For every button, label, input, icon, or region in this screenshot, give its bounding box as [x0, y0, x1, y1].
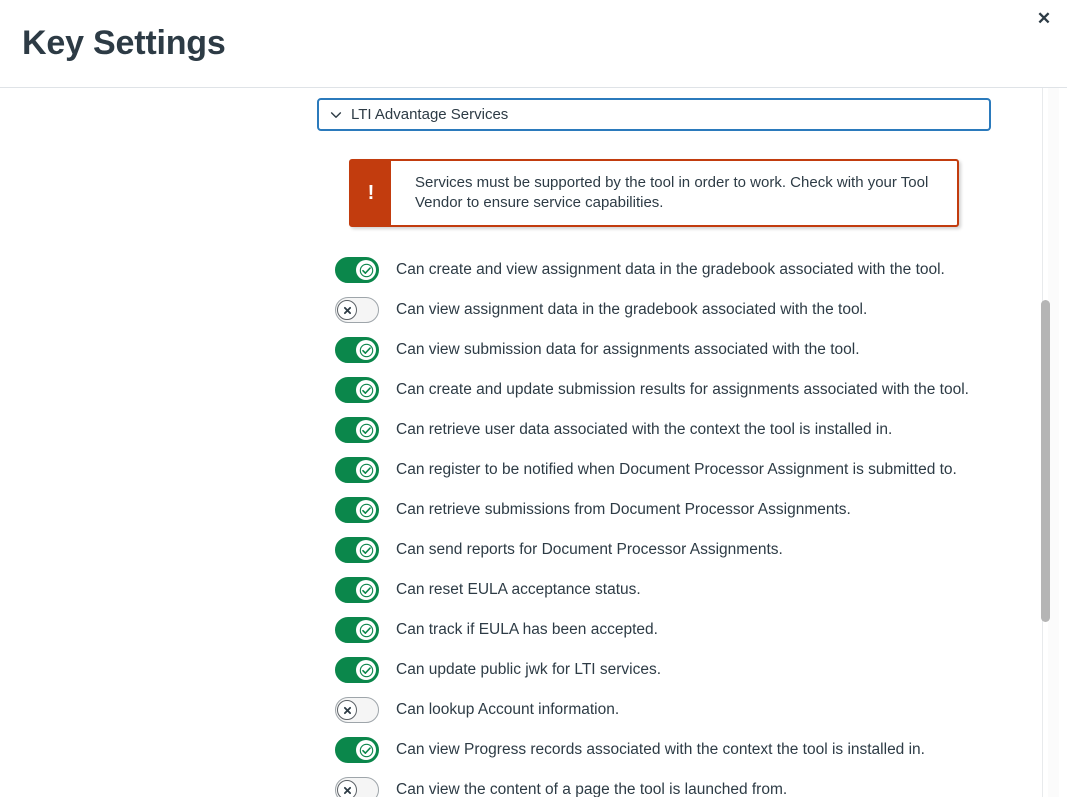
x-icon — [340, 703, 355, 718]
alert-message: Services must be supported by the tool i… — [391, 161, 957, 225]
service-toggle-row[interactable]: Can create and update submission results… — [317, 370, 991, 410]
toggle-switch-on[interactable] — [335, 657, 379, 683]
service-toggle-row[interactable]: Can send reports for Document Processor … — [317, 530, 991, 570]
toggle-switch-on[interactable] — [335, 377, 379, 403]
toggle-knob — [356, 660, 376, 680]
check-icon — [359, 463, 374, 478]
close-button[interactable]: ✕ — [1031, 5, 1057, 31]
service-toggle-row[interactable]: Can lookup Account information. — [317, 690, 991, 730]
check-icon — [359, 543, 374, 558]
scrollbar-track[interactable] — [1048, 88, 1059, 797]
service-toggle-label: Can retrieve submissions from Document P… — [396, 500, 851, 520]
toggle-knob — [356, 620, 376, 640]
service-toggle-label: Can update public jwk for LTI services. — [396, 660, 661, 680]
service-toggle-label: Can track if EULA has been accepted. — [396, 620, 658, 640]
chevron-down-icon — [329, 108, 343, 122]
page-title: Key Settings — [22, 22, 226, 64]
check-icon — [359, 423, 374, 438]
toggle-switch-on[interactable] — [335, 257, 379, 283]
service-toggle-row[interactable]: Can create and view assignment data in t… — [317, 250, 991, 290]
toggle-group-label: LTI Advantage Services — [351, 106, 508, 124]
service-toggle-label: Can view Progress records associated wit… — [396, 740, 925, 760]
check-icon — [359, 623, 374, 638]
service-toggle-row[interactable]: Can reset EULA acceptance status. — [317, 570, 991, 610]
toggle-switch-off[interactable] — [335, 297, 379, 323]
check-icon — [359, 503, 374, 518]
service-toggle-row[interactable]: Can view Progress records associated wit… — [317, 730, 991, 770]
service-toggle-label: Can view the content of a page the tool … — [396, 780, 787, 797]
toggle-group-lti-advantage-services[interactable]: LTI Advantage Services — [317, 98, 991, 131]
service-toggle-row[interactable]: Can retrieve submissions from Document P… — [317, 490, 991, 530]
toggle-switch-on[interactable] — [335, 417, 379, 443]
toggle-switch-on[interactable] — [335, 577, 379, 603]
modal-body: LTI Advantage Services ! Services must b… — [0, 88, 1067, 797]
scrollbar-thumb[interactable] — [1041, 300, 1050, 622]
service-toggle-label: Can create and update submission results… — [396, 380, 969, 400]
check-icon — [359, 743, 374, 758]
toggle-knob — [337, 700, 357, 720]
toggle-switch-off[interactable] — [335, 697, 379, 723]
toggle-knob — [356, 540, 376, 560]
close-icon: ✕ — [1037, 10, 1051, 27]
toggle-switch-on[interactable] — [335, 617, 379, 643]
toggle-switch-on[interactable] — [335, 337, 379, 363]
toggle-knob — [356, 740, 376, 760]
service-toggle-label: Can view assignment data in the gradeboo… — [396, 300, 867, 320]
toggle-knob — [356, 460, 376, 480]
toggle-switch-on[interactable] — [335, 737, 379, 763]
toggle-knob — [356, 420, 376, 440]
check-icon — [359, 343, 374, 358]
x-icon — [340, 303, 355, 318]
check-icon — [359, 263, 374, 278]
warning-icon-glyph: ! — [368, 183, 375, 203]
service-toggle-label: Can lookup Account information. — [396, 700, 619, 720]
toggle-switch-on[interactable] — [335, 537, 379, 563]
service-toggle-row[interactable]: Can retrieve user data associated with t… — [317, 410, 991, 450]
service-support-warning-alert: ! Services must be supported by the tool… — [349, 159, 959, 227]
toggle-switch-on[interactable] — [335, 457, 379, 483]
warning-icon: ! — [351, 161, 391, 225]
service-toggle-row[interactable]: Can register to be notified when Documen… — [317, 450, 991, 490]
settings-content: LTI Advantage Services ! Services must b… — [317, 98, 991, 797]
check-icon — [359, 583, 374, 598]
service-toggle-label: Can view submission data for assignments… — [396, 340, 860, 360]
toggle-knob — [356, 340, 376, 360]
x-icon — [340, 783, 355, 797]
toggle-switch-off[interactable] — [335, 777, 379, 797]
service-toggle-label: Can register to be notified when Documen… — [396, 460, 957, 480]
service-toggle-label: Can send reports for Document Processor … — [396, 540, 783, 560]
service-toggle-row[interactable]: Can track if EULA has been accepted. — [317, 610, 991, 650]
service-toggle-label: Can retrieve user data associated with t… — [396, 420, 892, 440]
toggle-knob — [356, 380, 376, 400]
check-icon — [359, 663, 374, 678]
toggle-knob — [337, 780, 357, 797]
key-settings-modal: Key Settings ✕ LTI Advantage Services ! — [0, 0, 1067, 797]
toggle-knob — [356, 580, 376, 600]
service-toggle-list: Can create and view assignment data in t… — [317, 250, 991, 797]
service-toggle-row[interactable]: Can update public jwk for LTI services. — [317, 650, 991, 690]
toggle-knob — [356, 500, 376, 520]
service-toggle-label: Can create and view assignment data in t… — [396, 260, 945, 280]
service-toggle-label: Can reset EULA acceptance status. — [396, 580, 641, 600]
service-toggle-row[interactable]: Can view assignment data in the gradeboo… — [317, 290, 991, 330]
toggle-switch-on[interactable] — [335, 497, 379, 523]
toggle-knob — [337, 300, 357, 320]
modal-header: Key Settings ✕ — [0, 0, 1067, 88]
service-toggle-row[interactable]: Can view the content of a page the tool … — [317, 770, 991, 797]
check-icon — [359, 383, 374, 398]
toggle-knob — [356, 260, 376, 280]
service-toggle-row[interactable]: Can view submission data for assignments… — [317, 330, 991, 370]
